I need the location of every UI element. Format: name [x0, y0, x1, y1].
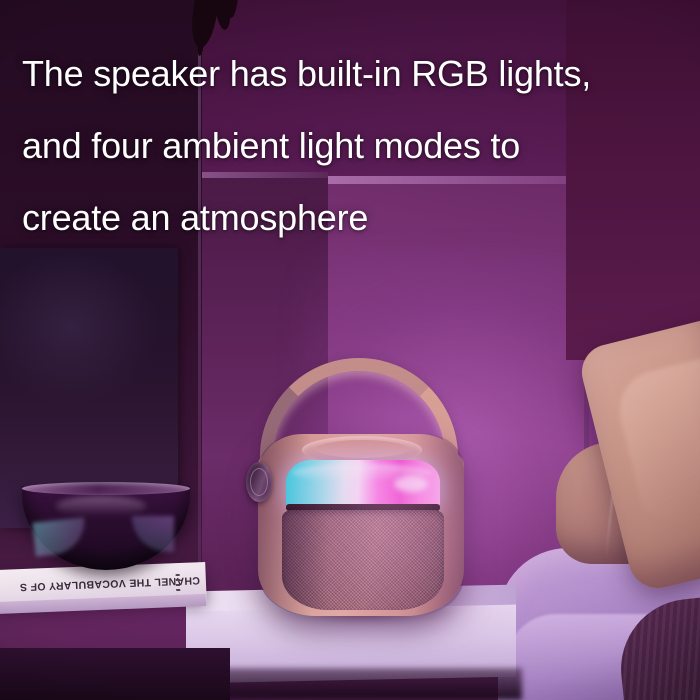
book-spine-marks [176, 574, 181, 594]
glass-bowl-highlight [56, 496, 146, 516]
table-floor-shadow [186, 668, 522, 700]
caption-line-3: create an atmosphere [22, 182, 694, 254]
caption-line-1: The speaker has built-in RGB lights, [22, 38, 694, 110]
floor-dark-area [0, 648, 230, 700]
product-lifestyle-image: CHANEL THE VOCABULARY OF S The speaker h… [0, 0, 700, 700]
speaker-light-spill-glow [236, 392, 536, 632]
glass-bowl-rim [22, 482, 190, 495]
caption-line-2: and four ambient light modes to [22, 110, 694, 182]
caption-overlay: The speaker has built-in RGB lights, and… [22, 38, 694, 254]
